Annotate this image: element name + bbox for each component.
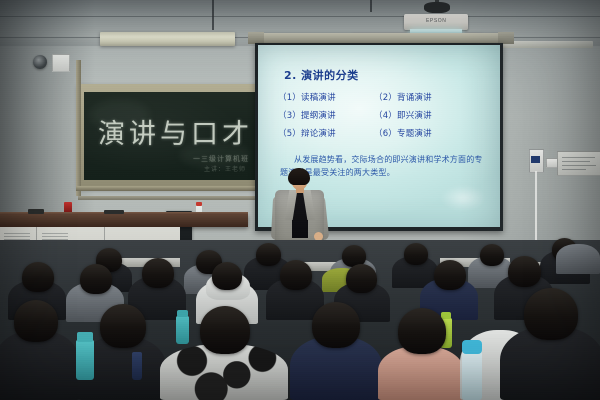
student-head <box>256 243 281 266</box>
chalk-rail <box>76 186 266 191</box>
student-head <box>480 244 504 266</box>
student-shoulders <box>378 346 464 400</box>
projector-icon: EPSON <box>404 14 468 30</box>
wall-junction-box <box>52 54 70 72</box>
student-head <box>200 306 250 354</box>
ceiling-speaker-icon <box>33 55 47 69</box>
bottle-cap <box>441 312 451 319</box>
blackboard-title-text: 演讲与口才 <box>98 112 253 151</box>
projector-mount-bracket <box>424 2 450 13</box>
student-shoulders <box>556 244 600 274</box>
drink-bottle <box>132 352 142 380</box>
student-head <box>280 260 312 290</box>
wall-notice-sign <box>557 151 600 176</box>
student-head <box>80 264 112 294</box>
lecture-hall-photo: EPSON 演讲与口才 一三级计算机班 主讲：王老师 2. 演讲的分类 （1）读… <box>0 0 600 400</box>
student-head <box>434 260 466 290</box>
presenter-hair <box>288 168 310 185</box>
water-bottle <box>176 316 189 344</box>
student-head <box>398 308 446 354</box>
ceiling-cable <box>212 0 214 30</box>
water-bottle <box>462 352 482 400</box>
sign-text-line <box>562 169 586 170</box>
student-head <box>22 262 54 292</box>
projector-brand-label: EPSON <box>426 18 447 24</box>
blackboard-subtitle-line2: 主讲：王老师 <box>204 164 246 173</box>
ledge-object <box>28 209 44 214</box>
front-ledge <box>0 214 248 227</box>
student-head <box>14 300 58 342</box>
ceiling-cable <box>370 0 372 12</box>
bottle-cap <box>462 340 482 354</box>
student-head <box>100 304 146 348</box>
blackboard-post <box>76 60 81 196</box>
student-head <box>346 264 377 293</box>
sign-text-line <box>562 157 595 158</box>
bottle-cap <box>196 202 202 206</box>
bottle-cap <box>177 310 188 317</box>
student-head <box>404 243 428 265</box>
blackboard: 演讲与口才 一三级计算机班 主讲：王老师 <box>84 92 258 180</box>
bottle-cap <box>77 332 93 342</box>
blackboard-subtitle-line1: 一三级计算机班 <box>193 154 249 164</box>
student-head <box>312 302 360 348</box>
student-head <box>524 288 578 340</box>
chalk-rail-lower <box>78 196 264 200</box>
student-head <box>508 256 541 287</box>
student-head <box>212 262 242 290</box>
sign-text-line <box>562 161 590 162</box>
student-head <box>142 258 174 288</box>
ceiling-light-fixture <box>100 32 235 46</box>
sign-text-line <box>562 165 596 166</box>
water-bottle <box>76 340 94 380</box>
wall-panel-display <box>531 156 540 163</box>
ledge-object <box>104 210 124 214</box>
